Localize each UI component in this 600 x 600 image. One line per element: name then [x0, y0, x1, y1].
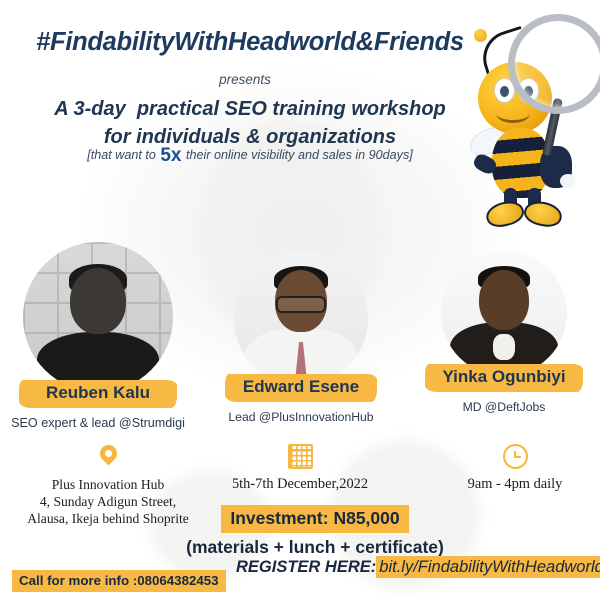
bee-shoe-left [484, 198, 527, 230]
speaker-card: Reuben Kalu SEO expert & lead @Strumdigi [10, 242, 186, 430]
speaker-name-banner: Yinka Ogunbiyi [425, 362, 583, 393]
speakers-section: Reuben Kalu SEO expert & lead @Strumdigi… [0, 238, 600, 433]
speaker-card: Yinka Ogunbiyi MD @DeftJobs [420, 250, 588, 414]
bee-antenna-ball [474, 29, 487, 42]
pricing-block: Investment: N85,000 (materials + lunch +… [170, 505, 460, 558]
speaker-role: Lead @PlusInnovationHub [218, 410, 384, 424]
time-detail: 9am - 4pm daily [430, 442, 600, 494]
multiplier-highlight: 5x [159, 145, 182, 166]
speaker-card: Edward Esene Lead @PlusInnovationHub [218, 252, 384, 424]
magnifying-glass-icon [508, 14, 600, 114]
avatar [234, 252, 368, 386]
bee-shoe-right [522, 198, 564, 229]
registration-link[interactable]: bit.ly/FindabilityWithHeadworld [376, 556, 600, 578]
speaker-name-banner: Reuben Kalu [19, 378, 177, 409]
event-time: 9am - 4pm daily [430, 476, 600, 494]
avatar-collar [493, 334, 515, 360]
investment-inclusions: (materials + lunch + certificate) [170, 537, 460, 558]
clock-icon [430, 444, 600, 474]
speaker-name: Edward Esene [243, 377, 359, 396]
subnote-before: [that want to [87, 148, 159, 162]
speaker-name-banner: Edward Esene [225, 372, 377, 403]
avatar-face [479, 270, 529, 330]
event-subnote: [that want to 5x their online visibility… [0, 145, 500, 167]
bee-smile [496, 104, 530, 123]
event-headline: A 3-day practical SEO training workshop … [0, 96, 500, 151]
avatar-glasses [276, 296, 326, 313]
speaker-role: MD @DeftJobs [420, 400, 588, 414]
venue-line-1: Plus Innovation Hub [0, 477, 216, 494]
avatar [23, 242, 173, 392]
speaker-name: Yinka Ogunbiyi [442, 367, 565, 386]
register-label: REGISTER HERE: [236, 558, 376, 576]
speaker-name: Reuben Kalu [46, 383, 150, 402]
campaign-hashtag: #FindabilityWithHeadworld&Friends [0, 28, 500, 57]
bee-pupil [500, 86, 509, 97]
calendar-icon [198, 444, 402, 474]
investment-amount: Investment: N85,000 [221, 505, 408, 533]
contact-phone-badge[interactable]: Call for more info :08064382453 [12, 570, 226, 592]
flyer-poster: #FindabilityWithHeadworld&Friends presen… [0, 0, 600, 600]
date-detail: 5th-7th December,2022 [198, 442, 402, 494]
bee-mascot-icon [452, 6, 598, 218]
location-pin-icon [0, 445, 216, 475]
avatar [441, 250, 567, 376]
subnote-after: their online visibility and sales in 90d… [182, 148, 412, 162]
register-row: REGISTER HERE:bit.ly/FindabilityWithHead… [236, 558, 600, 577]
presents-label: presents [0, 72, 490, 87]
event-date: 5th-7th December,2022 [198, 476, 402, 494]
avatar-face [70, 268, 126, 334]
speaker-role: SEO expert & lead @Strumdigi [10, 416, 186, 430]
bee-glove [560, 174, 576, 188]
